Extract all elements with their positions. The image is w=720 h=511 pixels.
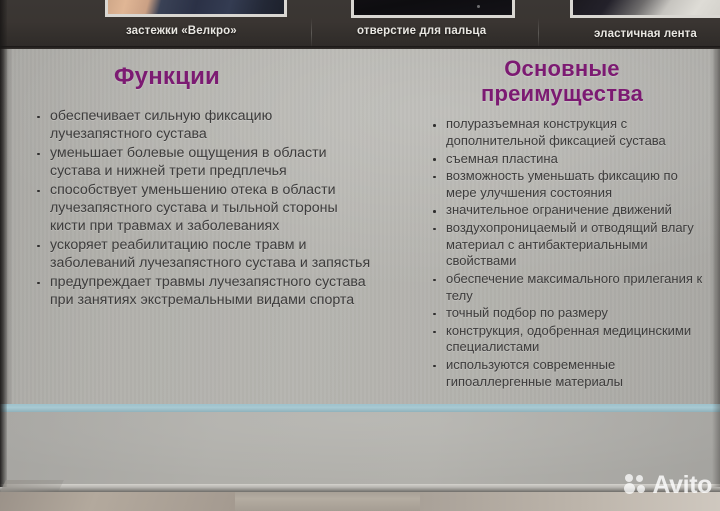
list-item: воздухопроницаемый и отводящий влагу мат…: [430, 220, 712, 270]
table-surface-left: [0, 492, 235, 511]
photo-image-thumb-opening: [354, 0, 512, 15]
list-item: конструкция, одобренная медицинскими спе…: [430, 323, 712, 356]
package-left-edge-shadow: [0, 0, 7, 487]
functions-list: обеспечивает сильную фиксацию лучезапяст…: [26, 107, 374, 309]
list-item: используются современные гипоаллергенные…: [430, 357, 712, 390]
table-surface: [0, 492, 720, 511]
package-bottom-left-corner: [0, 480, 64, 492]
functions-column: Функции обеспечивает сильную фиксацию лу…: [26, 49, 374, 310]
package-right-edge-shadow: [712, 49, 720, 487]
product-photo-elastic-band: [570, 0, 720, 18]
cyan-divider-stripe: [0, 404, 720, 412]
photo-strip-band: застежки «Велкро» отверстие для пальца э…: [0, 0, 720, 49]
list-item: значительное ограничение движений: [430, 202, 712, 219]
advantages-heading: Основные преимущества: [424, 49, 712, 106]
list-item: полуразъемная конструкция с дополнительн…: [430, 116, 712, 149]
list-item: обеспечивает сильную фиксацию лучезапяст…: [34, 107, 374, 143]
info-panel: Функции обеспечивает сильную фиксацию лу…: [0, 49, 720, 405]
caption-elastic-band: эластичная лента: [594, 28, 697, 40]
photo-image-elastic-band: [573, 0, 720, 15]
photo-image-velcro: [108, 0, 284, 14]
list-item: предупреждает травмы лучезапястного суст…: [34, 273, 374, 309]
photo-speck: [477, 5, 480, 8]
list-item: возможность уменьшать фиксацию по мере у…: [430, 168, 712, 201]
band-divider-1: [311, 18, 312, 48]
list-item: ускоряет реабилитацию после травм и забо…: [34, 236, 374, 272]
product-photo-thumb-opening: [351, 0, 515, 18]
list-item: съемная пластина: [430, 151, 712, 168]
product-packaging-photo: застежки «Велкро» отверстие для пальца э…: [0, 0, 720, 511]
notice-bar: С полной информацией об использовании из…: [0, 412, 720, 487]
avito-watermark: Avito: [624, 470, 712, 500]
band-divider-2: [538, 18, 539, 48]
functions-heading: Функции: [26, 49, 374, 91]
list-item: обеспечение максимального прилегания к т…: [430, 271, 712, 304]
avito-logo-icon: [624, 474, 648, 496]
advantages-list: полуразъемная конструкция с дополнительн…: [424, 116, 712, 390]
advantages-column: Основные преимущества полуразъемная конс…: [424, 49, 712, 391]
package-bottom-edge: [0, 484, 720, 492]
product-photo-velcro: [105, 0, 287, 17]
list-item: точный подбор по размеру: [430, 305, 712, 322]
avito-watermark-text: Avito: [652, 473, 712, 498]
caption-thumb-opening: отверстие для пальца: [357, 25, 486, 37]
caption-velcro-fasteners: застежки «Велкро»: [126, 25, 237, 37]
list-item: уменьшает болевые ощущения в области сус…: [34, 144, 374, 180]
list-item: способствует уменьшению отека в области …: [34, 181, 374, 235]
